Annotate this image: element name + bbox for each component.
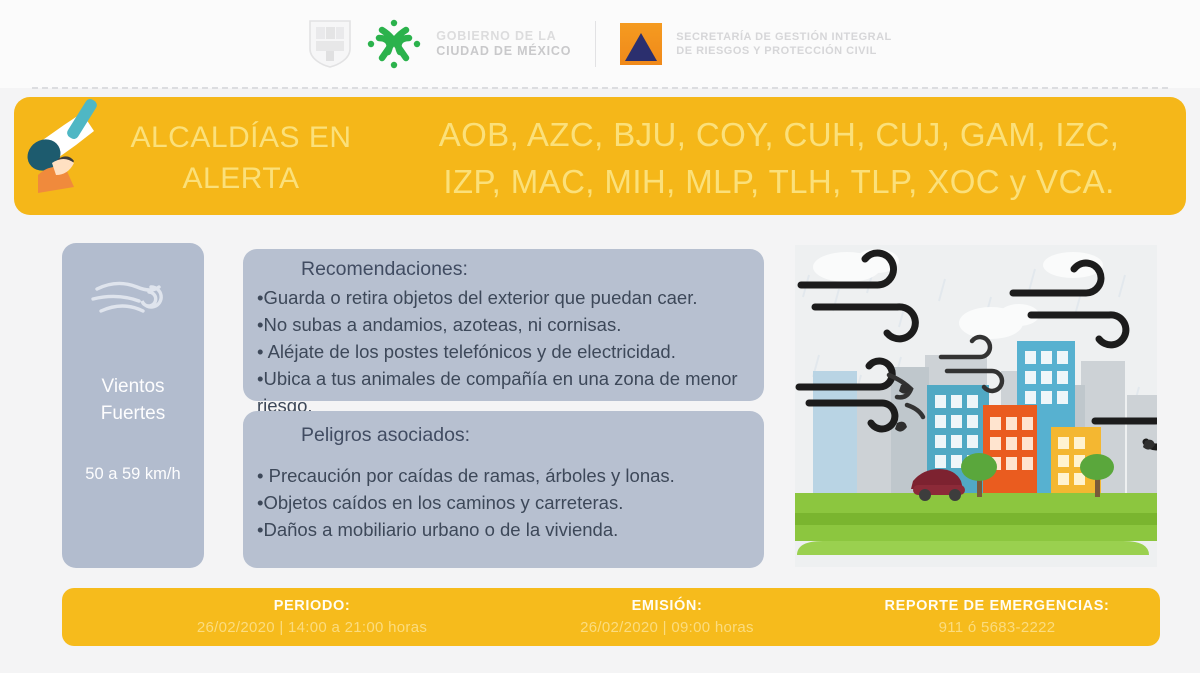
borough-list: AOB, AZC, BJU, COY, CUH, CUJ, GAM, IZC, … bbox=[394, 111, 1164, 205]
proteccion-civil-triangle-icon bbox=[620, 23, 662, 65]
cdmx-logo-icon bbox=[366, 18, 422, 70]
list-item: •Objetos caídos en los caminos y carrete… bbox=[257, 489, 750, 516]
header-logos: GOBIERNO DE LA CIUDAD DE MÉXICO SECRETAR… bbox=[308, 18, 892, 70]
secretariat-line-1: SECRETARÍA DE GESTIÓN INTEGRAL bbox=[676, 30, 891, 44]
footer-emision: EMISIÓN: 26/02/2020 | 09:00 horas bbox=[502, 596, 832, 638]
secretariat-line-2: DE RIESGOS Y PROTECCIÓN CIVIL bbox=[676, 44, 891, 58]
list-item: • Precaución por caídas de ramas, árbole… bbox=[257, 462, 750, 489]
associated-hazards-list: • Precaución por caídas de ramas, árbole… bbox=[257, 462, 750, 543]
government-wordmark: GOBIERNO DE LA CIUDAD DE MÉXICO bbox=[436, 29, 571, 59]
list-item: •Daños a mobiliario urbano o de la vivie… bbox=[257, 516, 750, 543]
hazard-type-card: Vientos Fuertes 50 a 59 km/h bbox=[62, 243, 204, 568]
triangle-shape bbox=[625, 33, 657, 61]
footer-bar: PERIODO: 26/02/2020 | 14:00 a 21:00 hora… bbox=[62, 588, 1160, 646]
header-dashed-rule bbox=[32, 87, 1168, 89]
associated-hazards-heading: Peligros asociados: bbox=[257, 421, 750, 450]
page-header: GOBIERNO DE LA CIUDAD DE MÉXICO SECRETAR… bbox=[0, 0, 1200, 88]
periodo-label: PERIODO: bbox=[122, 596, 502, 617]
hazard-speed: 50 a 59 km/h bbox=[62, 465, 204, 484]
alert-label-line-2: ALERTA bbox=[86, 158, 396, 199]
government-line-2: CIUDAD DE MÉXICO bbox=[436, 44, 571, 59]
borough-list-line-1: AOB, AZC, BJU, COY, CUH, CUJ, GAM, IZC, bbox=[394, 111, 1164, 158]
emision-value: 26/02/2020 | 09:00 horas bbox=[502, 617, 832, 638]
footer-emergencias: REPORTE DE EMERGENCIAS: 911 ó 5683-2222 bbox=[852, 596, 1142, 638]
alcaldias-alert-banner: ALCALDÍAS EN ALERTA AOB, AZC, BJU, COY, … bbox=[14, 97, 1186, 215]
secretariat-wordmark: SECRETARÍA DE GESTIÓN INTEGRAL DE RIESGO… bbox=[676, 30, 891, 58]
emergencias-value: 911 ó 5683-2222 bbox=[852, 617, 1142, 638]
recommendations-panel: Recomendaciones: •Guarda o retira objeto… bbox=[243, 249, 764, 401]
borough-list-line-2: IZP, MAC, MIH, MLP, TLH, TLP, XOC y VCA. bbox=[394, 158, 1164, 205]
header-divider bbox=[595, 21, 596, 67]
emision-label: EMISIÓN: bbox=[502, 596, 832, 617]
windy-city-illustration bbox=[795, 245, 1157, 567]
list-item: •Guarda o retira objetos del exterior qu… bbox=[257, 284, 750, 311]
list-item: •No subas a andamios, azoteas, ni cornis… bbox=[257, 311, 750, 338]
government-line-1: GOBIERNO DE LA bbox=[436, 29, 571, 44]
periodo-value: 26/02/2020 | 14:00 a 21:00 horas bbox=[122, 617, 502, 638]
alert-label-line-1: ALCALDÍAS EN bbox=[86, 117, 396, 158]
associated-hazards-panel: Peligros asociados: • Precaución por caí… bbox=[243, 411, 764, 568]
hazard-title: Vientos Fuertes bbox=[62, 373, 204, 427]
alert-bulletin-canvas: GOBIERNO DE LA CIUDAD DE MÉXICO SECRETAR… bbox=[0, 0, 1200, 673]
recommendations-list: •Guarda o retira objetos del exterior qu… bbox=[257, 284, 750, 419]
recommendations-heading: Recomendaciones: bbox=[257, 255, 750, 284]
wind-swirl-icon bbox=[87, 271, 179, 329]
emergencias-label: REPORTE DE EMERGENCIAS: bbox=[852, 596, 1142, 617]
cdmx-coat-of-arms-icon bbox=[308, 19, 352, 69]
hazard-title-line-2: Fuertes bbox=[62, 400, 204, 427]
list-item: • Aléjate de los postes telefónicos y de… bbox=[257, 338, 750, 365]
alert-label: ALCALDÍAS EN ALERTA bbox=[86, 117, 396, 199]
hazard-title-line-1: Vientos bbox=[62, 373, 204, 400]
footer-periodo: PERIODO: 26/02/2020 | 14:00 a 21:00 hora… bbox=[122, 596, 502, 638]
